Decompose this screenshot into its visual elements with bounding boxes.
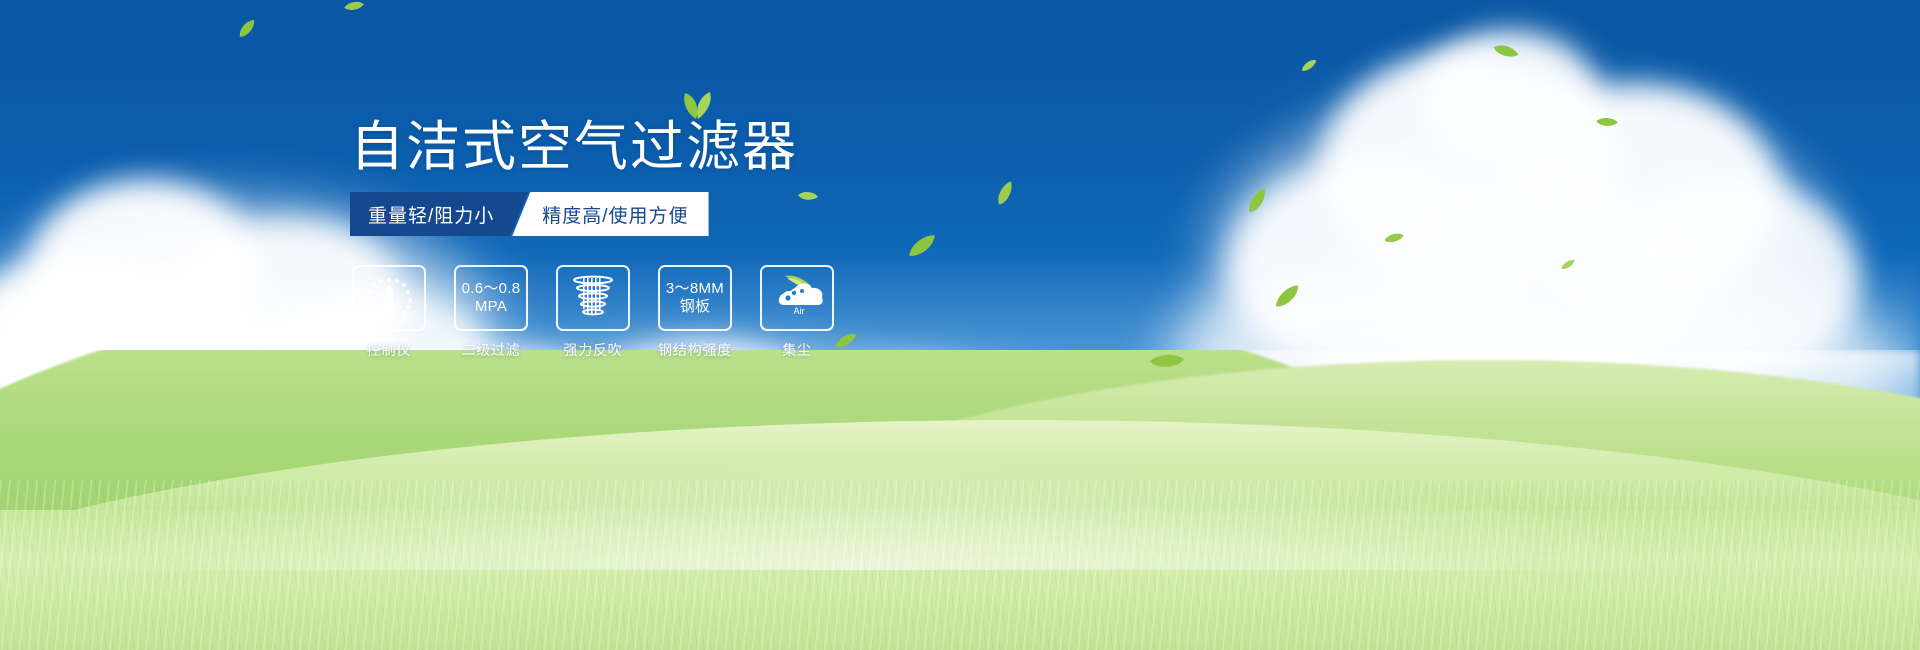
steel-value-line1: 3～8MM — [666, 280, 724, 298]
feature-item-backblow[interactable]: 强力反吹 — [556, 265, 630, 360]
page-title: 自洁式空气过滤器 — [350, 118, 798, 177]
steel-plate-text-icon-box: 3～8MM 钢板 — [658, 265, 732, 331]
svg-text:OFF: OFF — [399, 310, 412, 324]
filter-coil-icon — [568, 273, 618, 323]
feature-badges: 重量轻/阻力小 精度高/使用方便 — [350, 192, 709, 236]
feature-item-pressure[interactable]: 0.6～0.8 MPA 二级过滤 — [454, 265, 528, 360]
pressure-value-line2: MPA — [475, 298, 507, 316]
feature-label-dust: 集尘 — [782, 340, 812, 360]
air-cloud-icon-box: Air — [760, 265, 834, 331]
feature-label-steel: 钢结构强度 — [658, 340, 732, 360]
pressure-text-icon-box: 0.6～0.8 MPA — [454, 265, 528, 331]
banner-content: 自洁式空气过滤器 重量轻/阻力小 精度高/使用方便 — [0, 0, 1920, 650]
air-cloud-icon: Air — [771, 272, 827, 316]
feature-item-control[interactable]: NO OFF 控制仪 — [352, 265, 426, 360]
pressure-value-line1: 0.6～0.8 — [462, 280, 521, 298]
svg-text:Air: Air — [794, 306, 805, 316]
feature-label-control: 控制仪 — [367, 340, 411, 360]
badge-weight-resistance[interactable]: 重量轻/阻力小 — [350, 192, 528, 236]
feature-icon-row: NO OFF 控制仪 0.6～0.8 MPA 二级过滤 — [352, 265, 834, 360]
filter-coil-icon-box — [556, 265, 630, 331]
badge-precision-convenience[interactable]: 精度高/使用方便 — [512, 192, 708, 236]
feature-label-backblow: 强力反吹 — [563, 340, 622, 360]
steel-value-line2: 钢板 — [680, 298, 711, 316]
feature-label-pressure: 二级过滤 — [461, 340, 520, 360]
control-gauge-icon-box: NO OFF — [352, 265, 426, 331]
product-banner: 自洁式空气过滤器 重量轻/阻力小 精度高/使用方便 — [0, 0, 1920, 650]
feature-item-steel[interactable]: 3～8MM 钢板 钢结构强度 — [658, 265, 732, 360]
control-gauge-icon: NO OFF — [360, 272, 418, 324]
feature-item-dust[interactable]: Air 集尘 — [760, 265, 834, 360]
